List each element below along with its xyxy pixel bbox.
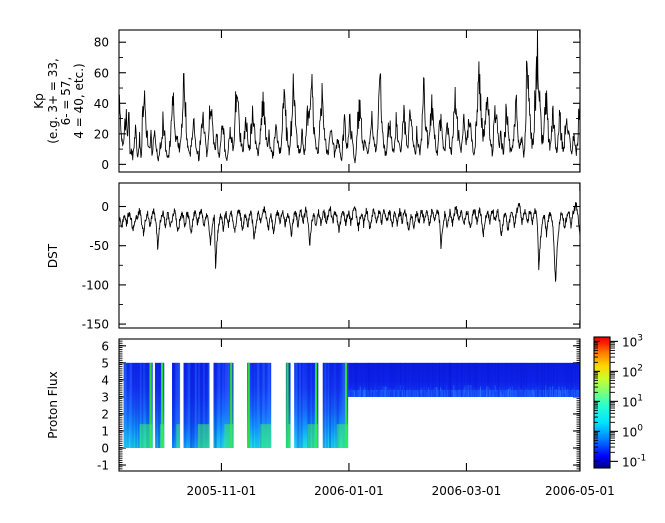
flux-low-energy-pocket bbox=[198, 424, 210, 448]
y-tick-label: 6 bbox=[101, 339, 109, 353]
flux-striation bbox=[520, 363, 521, 397]
flux-striation bbox=[415, 393, 416, 397]
flux-striation bbox=[448, 363, 449, 397]
flux-striation bbox=[480, 388, 481, 397]
flux-striation bbox=[467, 363, 468, 397]
flux-striation bbox=[395, 363, 396, 397]
flux-striation bbox=[564, 363, 565, 397]
flux-striation bbox=[556, 389, 557, 397]
y-tick-label: 0 bbox=[101, 200, 109, 214]
flux-striation bbox=[355, 363, 356, 397]
flux-enhancement-filament bbox=[248, 363, 250, 448]
flux-striation bbox=[368, 363, 369, 397]
figure-root: Kp (e.g. 3+ = 33, 6- = 57, 4 = 40, etc.)… bbox=[0, 0, 665, 523]
y-tick-label: -150 bbox=[82, 318, 109, 332]
flux-striation bbox=[472, 363, 473, 397]
flux-striation bbox=[392, 363, 393, 397]
flux-striation bbox=[385, 387, 386, 397]
y-tick-label: 4 bbox=[101, 373, 109, 387]
flux-low-energy-pocket bbox=[224, 424, 233, 448]
y-tick-label: 3 bbox=[101, 390, 109, 404]
flux-striation bbox=[560, 391, 561, 397]
flux-striation bbox=[525, 363, 526, 397]
flux-striation bbox=[416, 363, 417, 397]
flux-striation bbox=[532, 394, 533, 397]
flux-striation bbox=[434, 389, 435, 397]
kp-ylabel-line-4: 4 = 40, etc.) bbox=[72, 63, 86, 138]
proton-flux-ylabel: Proton Flux bbox=[46, 371, 60, 438]
flux-striation bbox=[372, 363, 373, 397]
flux-striation bbox=[369, 363, 370, 397]
flux-striation bbox=[428, 363, 429, 397]
y-tick-label: -50 bbox=[89, 239, 109, 253]
flux-striation bbox=[574, 392, 575, 396]
flux-striation bbox=[561, 387, 562, 397]
kp-ylabel-line-1: Kp bbox=[32, 93, 46, 109]
flux-striation bbox=[509, 392, 510, 397]
flux-striation bbox=[436, 387, 437, 396]
flux-striation bbox=[508, 389, 509, 397]
flux-striation bbox=[378, 363, 379, 397]
flux-striation bbox=[544, 363, 545, 397]
flux-enhancement-filament bbox=[286, 363, 288, 448]
flux-low-energy-pocket bbox=[260, 424, 271, 448]
y-tick-label: 5 bbox=[101, 356, 109, 370]
flux-striation bbox=[487, 363, 488, 397]
flux-low-energy-pocket bbox=[176, 424, 180, 448]
y-tick-label: 0 bbox=[101, 442, 109, 456]
flux-striation bbox=[524, 363, 525, 397]
flux-striation bbox=[498, 363, 499, 397]
flux-striation bbox=[538, 363, 539, 397]
flux-striation bbox=[514, 363, 515, 397]
flux-low-energy-pocket bbox=[288, 424, 290, 448]
flux-striation bbox=[565, 392, 566, 397]
flux-striation bbox=[427, 363, 428, 397]
flux-striation bbox=[568, 363, 569, 397]
flux-striation bbox=[404, 363, 405, 397]
flux-striation bbox=[486, 387, 487, 397]
flux-striation bbox=[546, 386, 547, 397]
y-tick-label: 1 bbox=[101, 424, 109, 438]
flux-striation bbox=[518, 363, 519, 397]
flux-striation bbox=[535, 388, 536, 397]
flux-striation bbox=[553, 363, 554, 397]
flux-striation bbox=[530, 363, 531, 397]
dst-ylabel: DST bbox=[46, 243, 60, 268]
flux-striation bbox=[400, 363, 401, 397]
flux-striation bbox=[517, 363, 518, 397]
flux-striation bbox=[379, 363, 380, 397]
flux-striation bbox=[493, 391, 494, 397]
flux-striation bbox=[425, 363, 426, 397]
flux-striation bbox=[523, 363, 524, 397]
flux-striation bbox=[542, 363, 543, 397]
flux-striation bbox=[443, 363, 444, 397]
flux-striation bbox=[445, 363, 446, 397]
flux-striation bbox=[383, 363, 384, 397]
flux-striation bbox=[439, 363, 440, 397]
flux-striation bbox=[543, 391, 544, 397]
flux-striation bbox=[550, 363, 551, 397]
flux-striation bbox=[547, 363, 548, 397]
flux-striation bbox=[420, 394, 421, 397]
flux-striation bbox=[371, 363, 372, 397]
flux-low-energy-pocket bbox=[160, 424, 164, 448]
flux-striation bbox=[570, 363, 571, 397]
flux-striation bbox=[421, 363, 422, 397]
flux-striation bbox=[549, 363, 550, 397]
y-tick-label: 40 bbox=[94, 97, 109, 111]
flux-striation bbox=[445, 393, 446, 397]
flux-striation bbox=[566, 363, 567, 397]
flux-striation bbox=[526, 363, 527, 397]
flux-striation bbox=[475, 363, 476, 397]
flux-striation bbox=[432, 363, 433, 397]
flux-striation bbox=[405, 363, 406, 397]
flux-striation bbox=[390, 363, 391, 397]
flux-striation bbox=[424, 388, 425, 397]
flux-striation bbox=[496, 388, 497, 397]
flux-striation bbox=[414, 363, 415, 397]
flux-striation bbox=[441, 363, 442, 397]
flux-striation bbox=[491, 363, 492, 397]
flux-striation bbox=[557, 363, 558, 397]
flux-striation bbox=[545, 385, 546, 397]
flux-striation bbox=[575, 363, 576, 397]
flux-striation bbox=[435, 363, 436, 397]
flux-striation bbox=[396, 363, 397, 397]
flux-striation bbox=[428, 363, 429, 397]
flux-striation bbox=[423, 363, 424, 397]
flux-striation bbox=[503, 394, 504, 397]
flux-striation bbox=[348, 363, 349, 397]
y-tick-label: 20 bbox=[94, 127, 109, 141]
flux-striation bbox=[485, 363, 486, 397]
flux-striation bbox=[382, 363, 383, 397]
flux-striation bbox=[402, 392, 403, 397]
x-tick-label: 2005-11-01 bbox=[187, 484, 257, 498]
x-tick-label: 2006-03-01 bbox=[432, 484, 502, 498]
flux-striation bbox=[472, 390, 473, 397]
flux-striation bbox=[374, 363, 375, 397]
flux-striation bbox=[507, 363, 508, 397]
flux-striation bbox=[464, 363, 465, 397]
flux-striation bbox=[450, 363, 451, 397]
flux-striation bbox=[481, 363, 482, 397]
flux-striation bbox=[453, 390, 454, 397]
y-tick-label: -1 bbox=[97, 459, 109, 473]
flux-striation bbox=[364, 387, 365, 396]
flux-striation bbox=[562, 387, 563, 397]
x-tick-label: 2006-01-01 bbox=[314, 484, 384, 498]
flux-striation bbox=[411, 363, 412, 397]
flux-striation bbox=[363, 390, 364, 397]
flux-striation bbox=[469, 363, 470, 397]
flux-striation bbox=[489, 363, 490, 397]
flux-striation bbox=[470, 363, 471, 397]
flux-striation bbox=[360, 386, 361, 397]
flux-striation bbox=[357, 363, 358, 397]
flux-striation bbox=[477, 363, 478, 397]
kp-ylabel-line-3: 6- = 57, bbox=[59, 77, 73, 126]
flux-striation bbox=[551, 363, 552, 397]
y-tick-label: 0 bbox=[101, 158, 109, 172]
flux-low-energy-pocket bbox=[140, 424, 153, 448]
flux-striation bbox=[578, 393, 579, 397]
y-tick-label: 80 bbox=[94, 36, 109, 50]
flux-striation bbox=[521, 363, 522, 397]
flux-striation bbox=[456, 392, 457, 397]
flux-striation bbox=[572, 363, 573, 397]
flux-striation bbox=[483, 393, 484, 397]
flux-striation bbox=[350, 363, 351, 397]
flux-striation bbox=[512, 363, 513, 397]
flux-striation bbox=[362, 363, 363, 397]
flux-striation bbox=[559, 386, 560, 397]
flux-low-energy-pocket bbox=[307, 424, 318, 448]
x-tick-label: 2006-05-01 bbox=[545, 484, 615, 498]
flux-striation bbox=[393, 363, 394, 397]
flux-striation bbox=[352, 389, 353, 397]
flux-striation bbox=[510, 363, 511, 397]
flux-striation bbox=[461, 363, 462, 397]
flux-striation bbox=[408, 363, 409, 397]
flux-striation bbox=[466, 391, 467, 397]
flux-striation bbox=[451, 363, 452, 397]
flux-striation bbox=[505, 363, 506, 397]
flux-striation bbox=[419, 363, 420, 397]
flux-striation bbox=[495, 363, 496, 397]
y-tick-label: 2 bbox=[101, 407, 109, 421]
flux-low-energy-pocket bbox=[337, 424, 348, 448]
flux-striation bbox=[388, 388, 389, 397]
flux-striation bbox=[377, 363, 378, 397]
kp-ylabel-line-2: (e.g. 3+ = 33, bbox=[46, 58, 60, 144]
flux-striation bbox=[375, 386, 376, 396]
flux-striation bbox=[422, 363, 423, 397]
y-tick-label: -100 bbox=[82, 278, 109, 292]
flux-striation bbox=[569, 363, 570, 397]
flux-striation bbox=[500, 392, 501, 397]
flux-striation bbox=[537, 363, 538, 397]
flux-striation bbox=[572, 363, 573, 397]
y-tick-label: 60 bbox=[94, 66, 109, 80]
flux-striation bbox=[431, 363, 432, 397]
flux-striation bbox=[354, 363, 355, 397]
flux-striation bbox=[418, 363, 419, 397]
scientific-figure: Kp (e.g. 3+ = 33, 6- = 57, 4 = 40, etc.)… bbox=[0, 0, 665, 523]
flux-striation bbox=[389, 363, 390, 397]
flux-striation bbox=[457, 363, 458, 397]
flux-striation bbox=[366, 363, 367, 397]
flux-striation bbox=[433, 363, 434, 397]
